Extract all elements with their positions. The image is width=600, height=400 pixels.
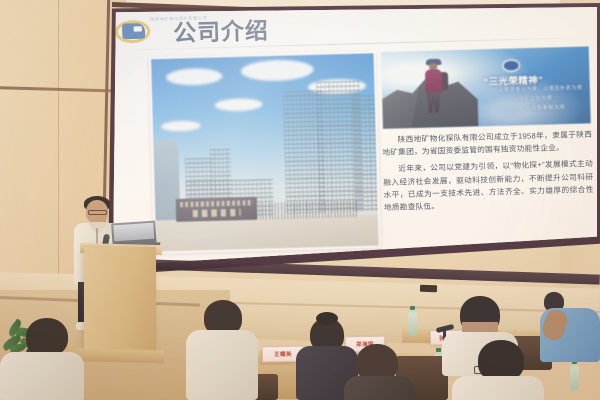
- podium-base: [76, 348, 164, 363]
- slide-title: 公司介绍: [173, 12, 270, 48]
- torso: [452, 376, 544, 400]
- slide-body-text: 陕西地矿物化探队有限公司成立于1958年，隶属于陕西地矿集团，为省国资委监管的国…: [382, 128, 594, 218]
- cloud: [241, 59, 314, 82]
- torso: [0, 352, 84, 400]
- cloud: [166, 68, 223, 86]
- office-building-photo: [149, 51, 381, 254]
- head: [26, 318, 68, 356]
- torso: [186, 330, 258, 400]
- attendee-right-glasses: [452, 340, 544, 400]
- high-rise-building: [352, 95, 380, 212]
- hair-bun: [316, 312, 338, 325]
- geologist-figure: [423, 59, 447, 114]
- water-bottle: [570, 366, 579, 390]
- mountaineer-photo: “三光荣精神” 以艰苦奋斗为荣，以艰苦朴素为荣 以找矿立功为荣 以无私奉献为荣: [380, 45, 592, 130]
- torso: [344, 376, 414, 400]
- attendee-center-short-hair: [344, 344, 414, 400]
- attendee-front-left: [186, 300, 258, 400]
- signboard-line-1: [180, 200, 253, 207]
- legs: [427, 92, 442, 113]
- presenter-glasses-icon: [88, 210, 107, 215]
- bottle-cap: [436, 348, 441, 352]
- attendee-far-right-blue: [540, 292, 600, 362]
- water-bottle: [408, 312, 417, 336]
- cloud: [215, 98, 263, 112]
- cloud: [161, 120, 201, 131]
- perimeter-fence: [259, 200, 359, 219]
- signboard-line-2: [193, 209, 241, 218]
- jacket: [425, 69, 442, 94]
- attendee-front-left: [0, 318, 80, 400]
- laptop-screen: [113, 223, 154, 242]
- slide-paragraph-1: 陕西地矿物化探队有限公司成立于1958年，隶属于陕西地矿集团，为省国资委监管的国…: [382, 128, 593, 159]
- nameplate-text: 王耀英: [274, 350, 292, 358]
- wooden-podium: [84, 247, 156, 355]
- conference-photo-scene: 陕西地矿物化探队有限公司 公司介绍: [0, 0, 600, 400]
- wall-panel-line: [58, 0, 59, 300]
- wall-socket: [420, 285, 437, 293]
- logo-mark: [122, 23, 145, 39]
- bottle-cap: [410, 306, 415, 310]
- company-signboard: [176, 197, 258, 222]
- spirit-subline-2: 以找矿立功为荣: [513, 94, 553, 102]
- projection-screen: 陕西地矿物化探队有限公司 公司介绍: [113, 7, 597, 268]
- glasses-icon: [474, 366, 485, 374]
- slide-paragraph-2: 近年来，公司以党建为引领，以“物化探+”发展模式主动融入经济社会发展，驱动科技创…: [383, 158, 594, 214]
- spirit-subline-3: 以无私奉献为荣: [526, 103, 566, 111]
- slide-surface: 陕西地矿物化探队有限公司 公司介绍: [113, 7, 597, 268]
